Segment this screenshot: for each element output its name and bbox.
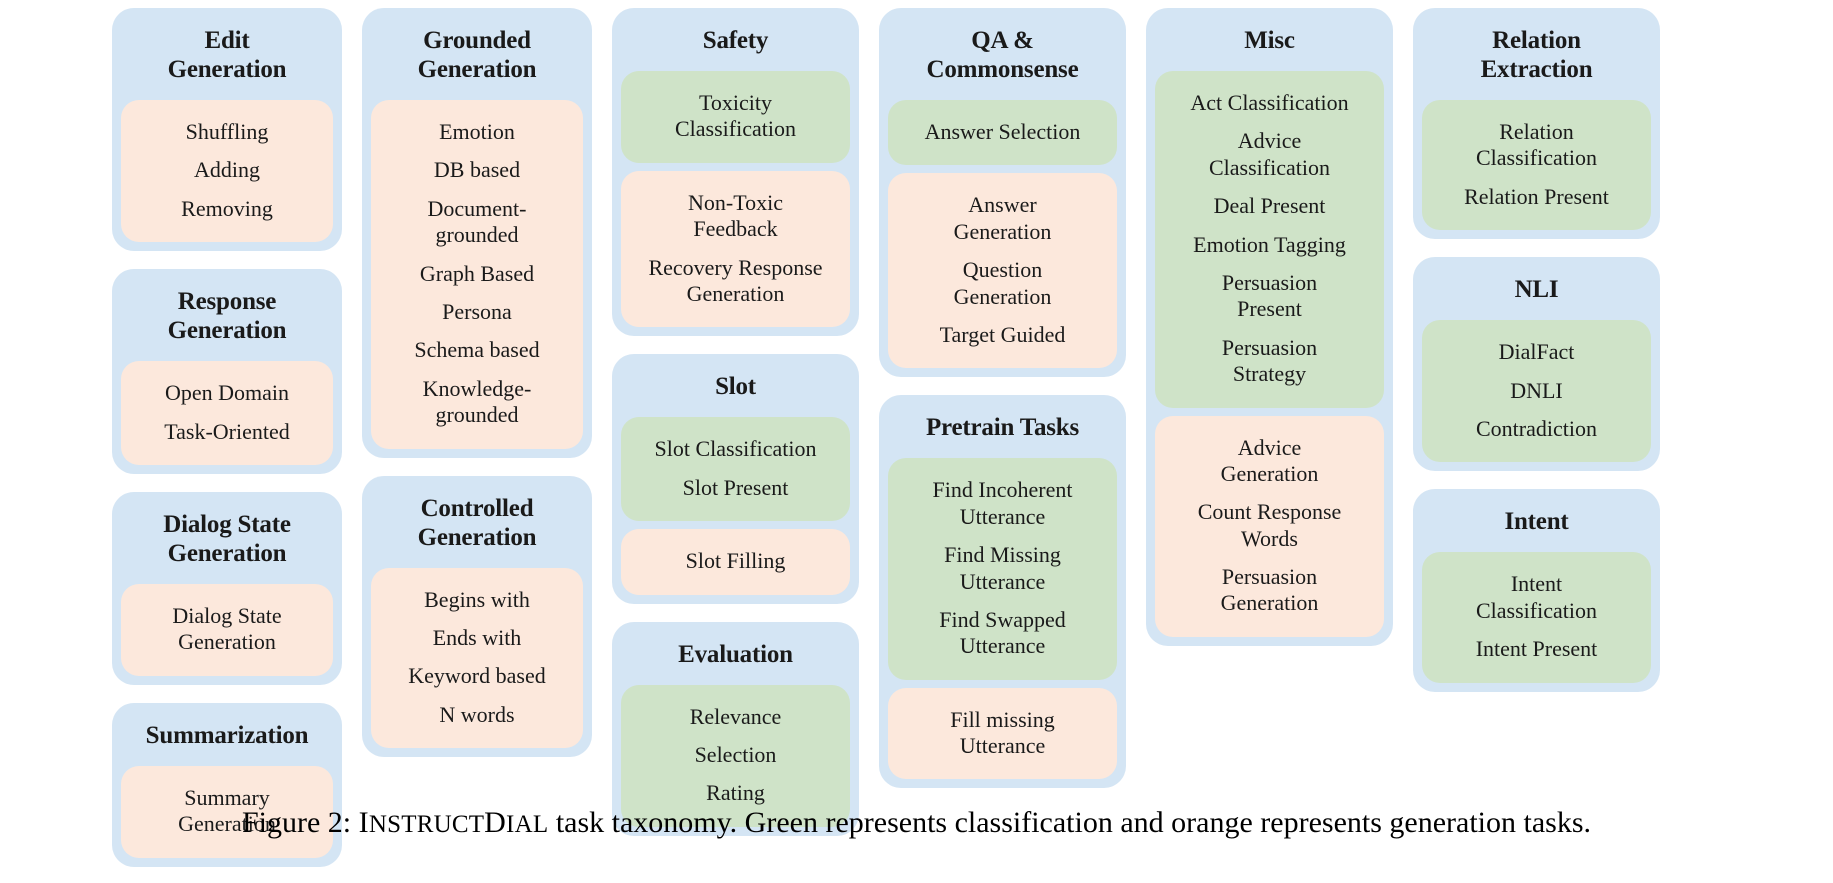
task-item[interactable]: Intent Present: [1430, 630, 1643, 668]
classification-task-block[interactable]: Answer Selection: [888, 100, 1117, 165]
group-title: Intent: [1422, 498, 1651, 544]
taxonomy-figure: Edit GenerationShufflingAddingRemovingRe…: [0, 0, 1833, 883]
group-title: Misc: [1155, 17, 1384, 63]
classification-task-block[interactable]: Slot ClassificationSlot Present: [621, 417, 850, 521]
group-title: Summarization: [121, 712, 333, 758]
task-item[interactable]: Relation Classification: [1430, 113, 1643, 178]
group-evaluation[interactable]: EvaluationRelevanceSelectionRating: [612, 622, 859, 836]
group-title: QA & Commonsense: [888, 17, 1117, 92]
column-5: MiscAct ClassificationAdvice Classificat…: [1146, 8, 1393, 646]
task-item[interactable]: DNLI: [1430, 372, 1643, 410]
column-2: Grounded GenerationEmotionDB basedDocume…: [362, 8, 592, 757]
group-slot[interactable]: SlotSlot ClassificationSlot PresentSlot …: [612, 354, 859, 603]
caption-suffix: task taxonomy. Green represents classifi…: [548, 806, 1591, 839]
group-dialog-state-generation[interactable]: Dialog State GenerationDialog State Gene…: [112, 492, 342, 685]
generation-task-block[interactable]: Open DomainTask-Oriented: [121, 361, 333, 465]
task-item[interactable]: Dialog State Generation: [129, 597, 325, 662]
group-pretrain-tasks[interactable]: Pretrain TasksFind Incoherent UtteranceF…: [879, 395, 1126, 788]
task-item[interactable]: Count Response Words: [1163, 493, 1376, 558]
task-item[interactable]: Relation Present: [1430, 178, 1643, 216]
group-safety[interactable]: SafetyToxicity ClassificationNon-Toxic F…: [612, 8, 859, 336]
task-item[interactable]: DB based: [379, 151, 575, 189]
task-item[interactable]: Intent Classification: [1430, 565, 1643, 630]
group-nli[interactable]: NLIDialFactDNLIContradiction: [1413, 257, 1660, 471]
generation-task-block[interactable]: Answer GenerationQuestion GenerationTarg…: [888, 173, 1117, 368]
group-relation-extraction[interactable]: Relation ExtractionRelation Classificati…: [1413, 8, 1660, 239]
generation-task-block[interactable]: Begins withEnds withKeyword basedN words: [371, 568, 583, 749]
group-controlled-generation[interactable]: Controlled GenerationBegins withEnds wit…: [362, 476, 592, 758]
classification-task-block[interactable]: DialFactDNLIContradiction: [1422, 320, 1651, 462]
classification-task-block[interactable]: Toxicity Classification: [621, 71, 850, 163]
group-response-generation[interactable]: Response GenerationOpen DomainTask-Orien…: [112, 269, 342, 474]
task-item[interactable]: Adding: [129, 151, 325, 189]
group-grounded-generation[interactable]: Grounded GenerationEmotionDB basedDocume…: [362, 8, 592, 458]
column-4: QA & CommonsenseAnswer SelectionAnswer G…: [879, 8, 1126, 788]
classification-task-block[interactable]: Act ClassificationAdvice ClassificationD…: [1155, 71, 1384, 408]
task-item[interactable]: Relevance: [629, 698, 842, 736]
classification-task-block[interactable]: Intent ClassificationIntent Present: [1422, 552, 1651, 682]
group-title: Slot: [621, 363, 850, 409]
task-item[interactable]: Advice Classification: [1163, 122, 1376, 187]
generation-task-block[interactable]: ShufflingAddingRemoving: [121, 100, 333, 242]
task-item[interactable]: Keyword based: [379, 657, 575, 695]
group-title: Pretrain Tasks: [888, 404, 1117, 450]
classification-task-block[interactable]: Relation ClassificationRelation Present: [1422, 100, 1651, 230]
task-item[interactable]: N words: [379, 696, 575, 734]
taxonomy-columns: Edit GenerationShufflingAddingRemovingRe…: [112, 8, 1732, 796]
task-item[interactable]: Persuasion Strategy: [1163, 329, 1376, 394]
task-item[interactable]: Begins with: [379, 581, 575, 619]
group-title: Evaluation: [621, 631, 850, 677]
task-item[interactable]: Find Missing Utterance: [896, 536, 1109, 601]
task-item[interactable]: Selection: [629, 736, 842, 774]
task-item[interactable]: Contradiction: [1430, 410, 1643, 448]
task-item[interactable]: Find Incoherent Utterance: [896, 471, 1109, 536]
task-item[interactable]: Shuffling: [129, 113, 325, 151]
task-item[interactable]: Slot Classification: [629, 430, 842, 468]
generation-task-block[interactable]: Advice GenerationCount Response WordsPer…: [1155, 416, 1384, 637]
group-title: Response Generation: [121, 278, 333, 353]
group-title: Grounded Generation: [371, 17, 583, 92]
group-title: Relation Extraction: [1422, 17, 1651, 92]
classification-task-block[interactable]: Find Incoherent UtteranceFind Missing Ut…: [888, 458, 1117, 679]
group-title: Edit Generation: [121, 17, 333, 92]
task-item[interactable]: Slot Filling: [629, 542, 842, 580]
task-item[interactable]: Act Classification: [1163, 84, 1376, 122]
group-qa-commonsense[interactable]: QA & CommonsenseAnswer SelectionAnswer G…: [879, 8, 1126, 377]
group-misc[interactable]: MiscAct ClassificationAdvice Classificat…: [1146, 8, 1393, 646]
group-title: Controlled Generation: [371, 485, 583, 560]
task-item[interactable]: Advice Generation: [1163, 429, 1376, 494]
task-item[interactable]: Open Domain: [129, 374, 325, 412]
group-edit-generation[interactable]: Edit GenerationShufflingAddingRemoving: [112, 8, 342, 251]
task-item[interactable]: Toxicity Classification: [629, 84, 842, 149]
column-1: Edit GenerationShufflingAddingRemovingRe…: [112, 8, 342, 867]
group-intent[interactable]: IntentIntent ClassificationIntent Presen…: [1413, 489, 1660, 691]
task-item[interactable]: Target Guided: [896, 316, 1109, 354]
task-item[interactable]: Document- grounded: [379, 190, 575, 255]
task-item[interactable]: Find Swapped Utterance: [896, 601, 1109, 666]
generation-task-block[interactable]: Dialog State Generation: [121, 584, 333, 676]
task-item[interactable]: Recovery Response Generation: [629, 249, 842, 314]
task-item[interactable]: Slot Present: [629, 469, 842, 507]
generation-task-block[interactable]: Slot Filling: [621, 529, 850, 594]
task-item[interactable]: Ends with: [379, 619, 575, 657]
task-item[interactable]: Removing: [129, 190, 325, 228]
task-item[interactable]: Knowledge- grounded: [379, 370, 575, 435]
column-6: Relation ExtractionRelation Classificati…: [1413, 8, 1660, 692]
task-item[interactable]: Fill missing Utterance: [896, 701, 1109, 766]
column-3: SafetyToxicity ClassificationNon-Toxic F…: [612, 8, 859, 836]
group-summarization[interactable]: SummarizationSummary Generation: [112, 703, 342, 867]
task-item[interactable]: Non-Toxic Feedback: [629, 184, 842, 249]
task-item[interactable]: Emotion: [379, 113, 575, 151]
group-title: Dialog State Generation: [121, 501, 333, 576]
group-title: NLI: [1422, 266, 1651, 312]
task-item[interactable]: Emotion Tagging: [1163, 226, 1376, 264]
task-item[interactable]: Task-Oriented: [129, 413, 325, 451]
caption-prefix: Figure 2:: [242, 806, 359, 839]
task-item[interactable]: DialFact: [1430, 333, 1643, 371]
task-item[interactable]: Deal Present: [1163, 187, 1376, 225]
task-item[interactable]: Persona: [379, 293, 575, 331]
task-item[interactable]: Schema based: [379, 331, 575, 369]
task-item[interactable]: Answer Generation: [896, 186, 1109, 251]
caption-system-name: INSTRUCTDIAL: [359, 811, 549, 838]
task-item[interactable]: Answer Selection: [896, 113, 1109, 151]
generation-task-block[interactable]: Fill missing Utterance: [888, 688, 1117, 780]
generation-task-block[interactable]: Non-Toxic FeedbackRecovery Response Gene…: [621, 171, 850, 328]
task-item[interactable]: Persuasion Generation: [1163, 558, 1376, 623]
group-title: Safety: [621, 17, 850, 63]
task-item[interactable]: Graph Based: [379, 255, 575, 293]
task-item[interactable]: Question Generation: [896, 251, 1109, 316]
figure-caption: Figure 2: INSTRUCTDIAL task taxonomy. Gr…: [0, 806, 1833, 840]
task-item[interactable]: Persuasion Present: [1163, 264, 1376, 329]
generation-task-block[interactable]: EmotionDB basedDocument- groundedGraph B…: [371, 100, 583, 449]
